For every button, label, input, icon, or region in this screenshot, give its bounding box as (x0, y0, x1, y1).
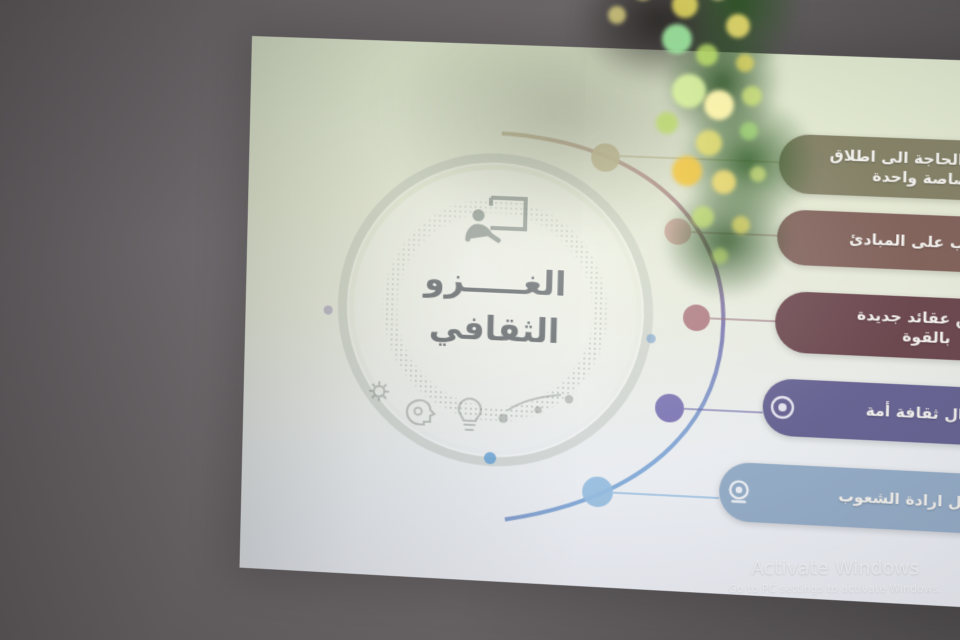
lightbulb-icon (458, 398, 481, 430)
list-item-label: استئصال ثقافة أمة (800, 398, 960, 431)
list-item-line2: رصاصة واحدة (872, 167, 960, 190)
hub-circle: الغـــــزو الثقافي (334, 147, 657, 474)
list-item-label: ب دون الحاجة الى اطلاق رصاصة واحدة (785, 144, 960, 195)
list-item-line1: فرض عقائد جديدة (857, 305, 960, 330)
hub-decorative-icons (353, 377, 633, 449)
node-dot-2 (664, 218, 691, 246)
dot-icon (324, 305, 333, 314)
gear-icon (370, 382, 389, 401)
presenter-board-icon (464, 193, 530, 246)
webcam-icon (769, 393, 797, 421)
node-dot-5 (582, 476, 613, 508)
projection-area: الغـــــزو الثقافي (0, 0, 960, 640)
projected-slide: الغـــــزو الثقافي (239, 36, 960, 608)
list-item[interactable]: فرض عقائد جديدة بالقوة (774, 291, 960, 369)
list-item-line1: استئصال ثقافة أمة (865, 401, 960, 426)
dot-icon (646, 334, 655, 344)
hub-title: الغـــــزو الثقافي (337, 252, 654, 360)
node-dot-3 (683, 304, 710, 332)
head-gear-icon (407, 400, 435, 425)
dot-trail (498, 392, 573, 427)
list-item[interactable]: الحرب على المبادئ (777, 209, 960, 279)
list-item-line1: شل ارادة الشعوب (838, 487, 960, 513)
list-item-line2: بالقوة (902, 327, 951, 348)
list-item[interactable]: استئصال ثقافة أمة (762, 378, 960, 454)
list-item-label: شل ارادة الشعوب (756, 483, 960, 518)
webcam-icon (725, 478, 753, 506)
list-item-label: فرض عقائد جديدة بالقوة (781, 302, 960, 355)
list-item[interactable]: شل ارادة الشعوب (719, 461, 960, 541)
list-item[interactable]: ب دون الحاجة الى اطلاق رصاصة واحدة (778, 134, 960, 207)
list-item-line1: الحرب على المبادئ (849, 230, 960, 255)
list-item-label: الحرب على المبادئ (783, 227, 960, 259)
node-dot-4 (655, 393, 685, 423)
photo-canvas: الغـــــزو الثقافي (0, 0, 960, 640)
